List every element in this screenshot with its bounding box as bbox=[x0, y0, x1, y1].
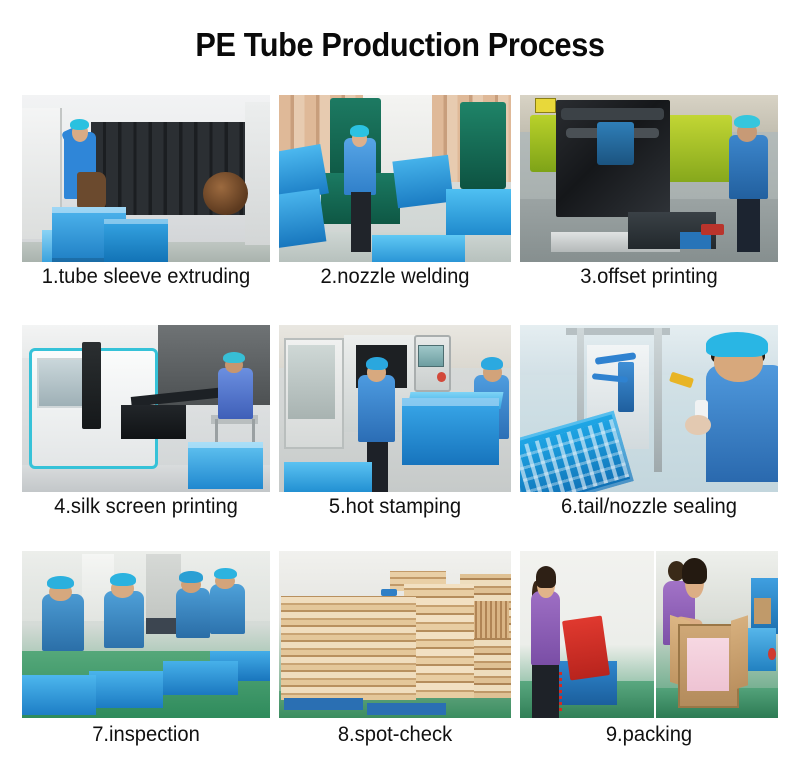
welding-machine-second bbox=[460, 102, 506, 189]
step-8-caption: 8.spot-check bbox=[284, 723, 507, 747]
conveyor-perforations bbox=[520, 419, 629, 492]
worker-body bbox=[210, 584, 245, 634]
worker-cap-icon bbox=[110, 573, 136, 586]
worker-hand bbox=[685, 415, 711, 435]
step-2-caption: 2.nozzle welding bbox=[284, 265, 507, 289]
step-5-caption: 5.hot stamping bbox=[284, 495, 507, 519]
worker-body bbox=[218, 368, 253, 418]
process-step-grid: 1.tube sleeve extruding 2.noz bbox=[22, 95, 778, 755]
blue-pallet bbox=[367, 703, 446, 715]
process-step-5[interactable]: 5.hot stamping bbox=[279, 325, 511, 551]
worker-body bbox=[344, 138, 376, 195]
process-step-8[interactable]: 8.spot-check bbox=[279, 551, 511, 755]
step-7-caption: 7.inspection bbox=[27, 723, 265, 747]
process-step-9[interactable]: 9.packing bbox=[520, 551, 778, 755]
blue-crate bbox=[104, 219, 168, 262]
red-sealing-pad bbox=[562, 615, 610, 680]
packing-photo-right bbox=[655, 551, 778, 718]
cabinet-glass-door bbox=[288, 345, 334, 418]
process-step-1[interactable]: 1.tube sleeve extruding bbox=[22, 95, 270, 325]
worker-cap-icon bbox=[366, 357, 388, 370]
material-bag bbox=[77, 172, 107, 209]
process-step-4[interactable]: 4.silk screen printing bbox=[22, 325, 270, 551]
blue-crate bbox=[372, 235, 465, 262]
blue-crate bbox=[188, 442, 262, 489]
step-6-photo bbox=[520, 325, 778, 492]
machine-column bbox=[82, 342, 102, 429]
red-knob bbox=[768, 648, 775, 660]
carton-flap bbox=[731, 615, 748, 691]
worker-cap-icon bbox=[214, 568, 238, 580]
step-1-photo bbox=[22, 95, 270, 262]
warning-sign-icon bbox=[535, 98, 556, 113]
blue-crate bbox=[89, 671, 163, 708]
process-infographic: PE Tube Production Process 1.tube sleev bbox=[0, 0, 800, 775]
worker-body bbox=[706, 365, 778, 482]
worker-cap-icon bbox=[481, 357, 503, 370]
worker-legs bbox=[737, 195, 760, 252]
carton-stack bbox=[281, 596, 416, 700]
blue-crate bbox=[284, 462, 372, 492]
side-machine bbox=[245, 102, 270, 246]
step-3-caption: 3.offset printing bbox=[525, 265, 773, 289]
worker-body bbox=[176, 588, 211, 638]
panel-screen bbox=[418, 345, 444, 367]
blue-crate bbox=[279, 189, 327, 249]
press-blue-unit bbox=[597, 122, 633, 165]
step-9-photo bbox=[520, 551, 778, 718]
red-bin bbox=[701, 224, 724, 236]
step-9-caption: 9.packing bbox=[525, 723, 773, 747]
step-4-photo bbox=[22, 325, 270, 492]
page-title: PE Tube Production Process bbox=[28, 26, 772, 64]
worker-body bbox=[42, 594, 84, 651]
blue-container bbox=[381, 589, 397, 596]
blue-crate bbox=[163, 661, 237, 694]
worker-cap-icon bbox=[223, 352, 245, 364]
film-reel bbox=[203, 172, 248, 215]
worker-cap-icon bbox=[70, 119, 89, 130]
worker-cap-icon bbox=[706, 332, 768, 357]
worker-cap-icon bbox=[47, 576, 74, 589]
step-7-photo bbox=[22, 551, 270, 718]
step-6-caption: 6.tail/nozzle sealing bbox=[525, 495, 773, 519]
machine-window bbox=[37, 358, 87, 408]
worker-body bbox=[531, 591, 561, 664]
worker-hair bbox=[682, 558, 707, 585]
blue-crate bbox=[446, 189, 511, 236]
process-step-7[interactable]: 7.inspection bbox=[22, 551, 270, 755]
worker-legs bbox=[351, 192, 371, 252]
process-step-6[interactable]: 6.tail/nozzle sealing bbox=[520, 325, 778, 551]
worker-cap-icon bbox=[350, 125, 369, 137]
machine-tray bbox=[121, 405, 185, 438]
blue-crate bbox=[392, 155, 453, 208]
blue-pallet bbox=[284, 698, 363, 710]
machine-frame bbox=[654, 328, 662, 472]
worker-body bbox=[358, 375, 395, 442]
pneumatic-cylinder bbox=[618, 362, 633, 412]
pink-poly-liner bbox=[687, 638, 729, 691]
step-3-photo bbox=[520, 95, 778, 262]
step-1-caption: 1.tube sleeve extruding bbox=[27, 265, 265, 289]
blue-crate bbox=[22, 675, 96, 715]
step-8-photo bbox=[279, 551, 511, 718]
worker-body bbox=[729, 135, 768, 198]
photo-divider bbox=[654, 551, 656, 718]
worker-cap-icon bbox=[734, 115, 760, 128]
step-4-caption: 4.silk screen printing bbox=[27, 495, 265, 519]
worker-cap-icon bbox=[179, 571, 203, 583]
step-5-photo bbox=[279, 325, 511, 492]
small-carton bbox=[754, 598, 771, 625]
worker-hair bbox=[536, 566, 556, 588]
packing-photo-left bbox=[520, 551, 654, 718]
process-step-2[interactable]: 2.nozzle welding bbox=[279, 95, 511, 325]
emergency-stop-button bbox=[437, 372, 446, 382]
blue-crate bbox=[402, 398, 499, 465]
process-step-3[interactable]: 3.offset printing bbox=[520, 95, 778, 325]
step-2-photo bbox=[279, 95, 511, 262]
worker-body bbox=[104, 591, 144, 648]
press-roller bbox=[561, 108, 664, 120]
